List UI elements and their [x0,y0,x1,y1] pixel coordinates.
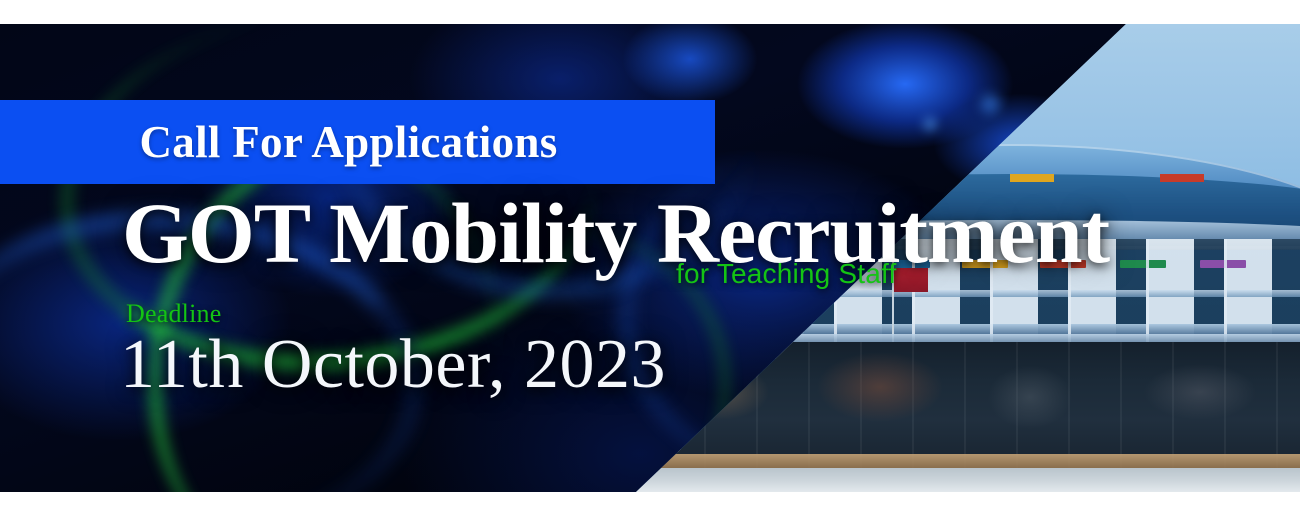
banner-artwork-stage: Call For Applications GOT Mobility Recru… [0,24,1300,492]
deadline-date: 11th October, 2023 [120,330,666,400]
banner-text-layer: Call For Applications GOT Mobility Recru… [0,24,1300,492]
letterbox-bottom [0,492,1300,520]
promotional-banner: Call For Applications GOT Mobility Recru… [0,0,1300,520]
deadline-label: Deadline [126,299,221,329]
kicker-text: Call For Applications [0,100,715,184]
letterbox-top [0,0,1300,24]
call-for-applications-band: Call For Applications [0,100,715,184]
banner-subheadline: for Teaching Staff [676,258,897,290]
banner-headline: GOT Mobility Recruitment [122,190,1109,276]
